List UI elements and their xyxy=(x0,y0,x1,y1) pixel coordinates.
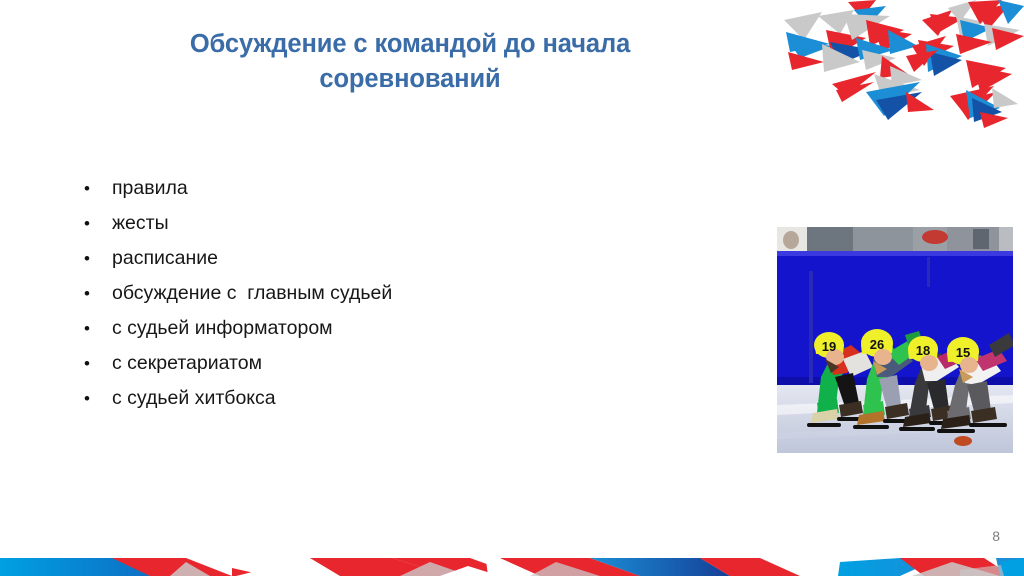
list-item: жесты xyxy=(84,206,604,241)
bullet-point-icon xyxy=(84,171,112,206)
slide-title-line-1: Обсуждение с командой до начала xyxy=(150,27,670,62)
bullet-point-icon xyxy=(84,206,112,241)
bottom-chevron-decoration xyxy=(0,532,1024,576)
svg-text:15: 15 xyxy=(956,345,970,360)
bullet-point-icon xyxy=(84,381,112,416)
list-item-label: правила xyxy=(112,171,188,206)
list-item: правила xyxy=(84,171,604,206)
list-item-label: жесты xyxy=(112,206,169,241)
list-item-label: с секретариатом xyxy=(112,346,262,381)
presentation-slide: Обсуждение с командой до начала соревнов… xyxy=(0,0,1024,576)
list-item: с судьей информатором xyxy=(84,311,604,346)
svg-text:18: 18 xyxy=(916,343,930,358)
list-item: с секретариатом xyxy=(84,346,604,381)
triangle-decoration-graphic xyxy=(770,0,1024,140)
list-item: обсуждение с главным судьей xyxy=(84,276,604,311)
list-item-label: обсуждение с главным судьей xyxy=(112,276,392,311)
page-number: 8 xyxy=(992,528,1000,544)
list-item-label: с судьей информатором xyxy=(112,311,333,346)
list-item: с судьей хитбокса xyxy=(84,381,604,416)
slide-title: Обсуждение с командой до начала соревнов… xyxy=(150,27,670,97)
bullet-point-icon xyxy=(84,276,112,311)
svg-text:26: 26 xyxy=(870,337,884,352)
bullet-list: правила жесты расписание обсуждение с гл… xyxy=(84,171,604,416)
list-item-label: расписание xyxy=(112,241,218,276)
svg-text:19: 19 xyxy=(822,339,836,354)
speed-skaters-photo: 19 26 xyxy=(777,227,1013,453)
list-item: расписание xyxy=(84,241,604,276)
bullet-point-icon xyxy=(84,346,112,381)
bullet-point-icon xyxy=(84,311,112,346)
bullet-point-icon xyxy=(84,241,112,276)
list-item-label: с судьей хитбокса xyxy=(112,381,276,416)
slide-title-line-2: соревнований xyxy=(150,62,670,97)
